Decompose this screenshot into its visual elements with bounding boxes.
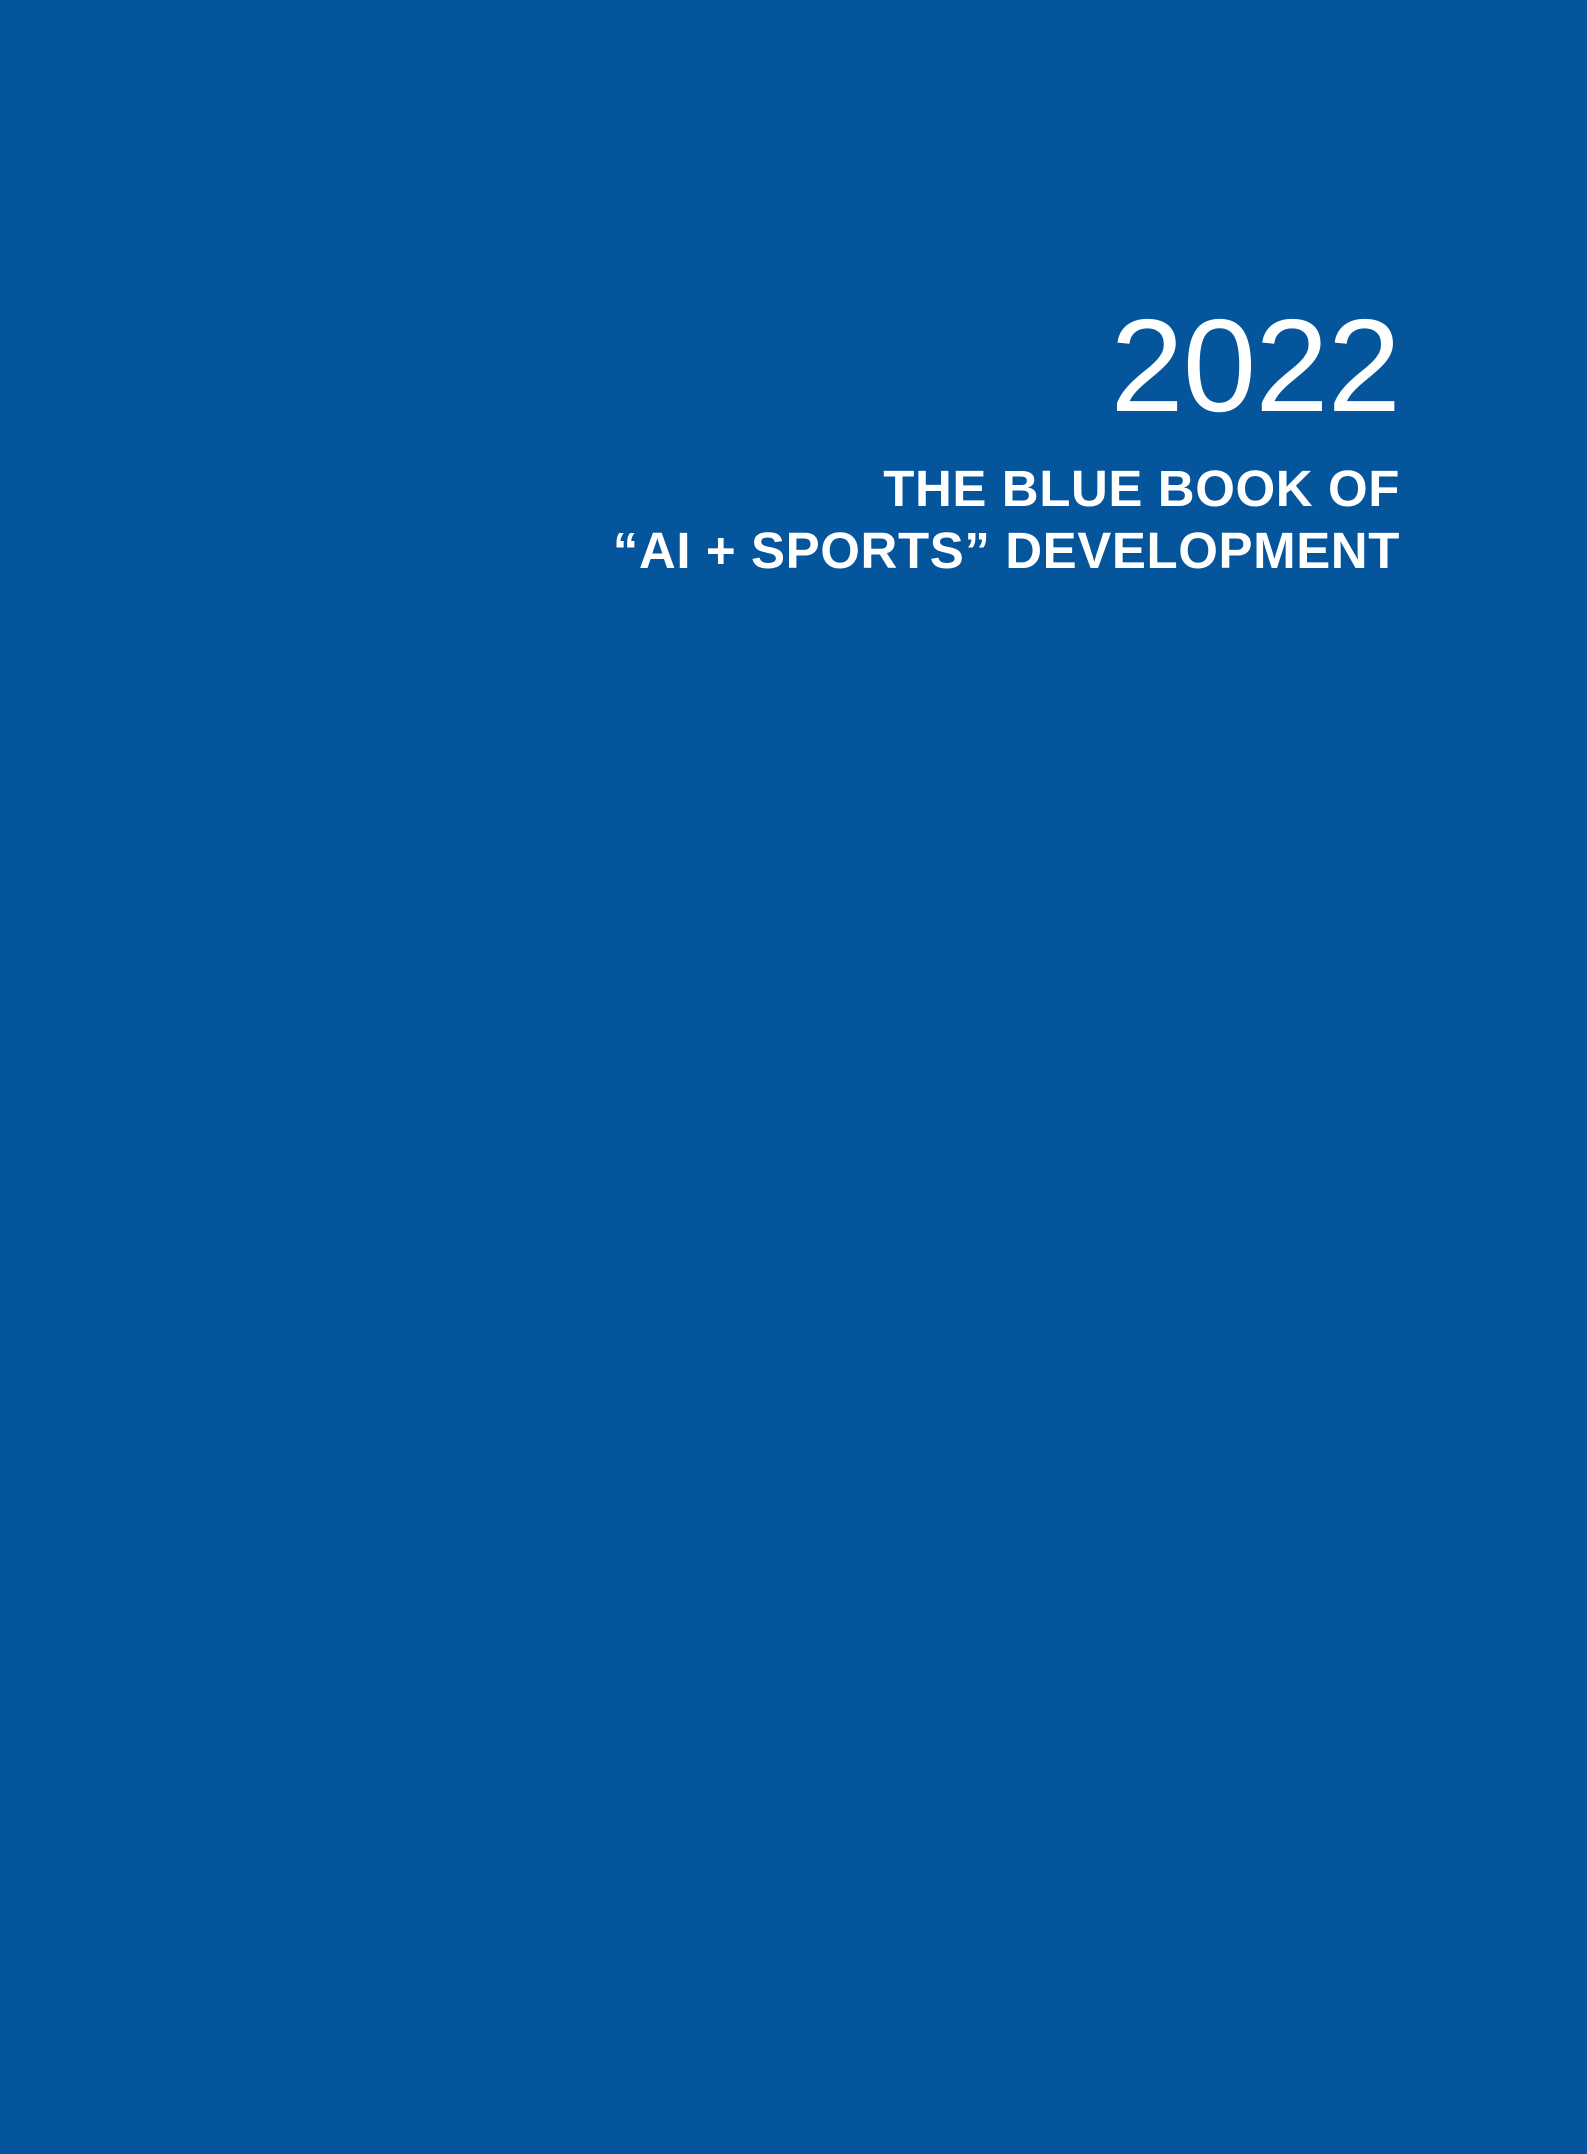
page-title: THE BLUE BOOK OF “AI + SPORTS” DEVELOPME… <box>0 458 1400 581</box>
cover-year: 2022 <box>0 300 1400 432</box>
cover-title-block: 2022 THE BLUE BOOK OF “AI + SPORTS” DEVE… <box>0 300 1400 581</box>
page-title-line-2: “AI + SPORTS” DEVELOPMENT <box>0 520 1400 582</box>
page-title-line-1: THE BLUE BOOK OF <box>0 458 1400 520</box>
report-cover-page: 2022 THE BLUE BOOK OF “AI + SPORTS” DEVE… <box>0 0 1587 2154</box>
